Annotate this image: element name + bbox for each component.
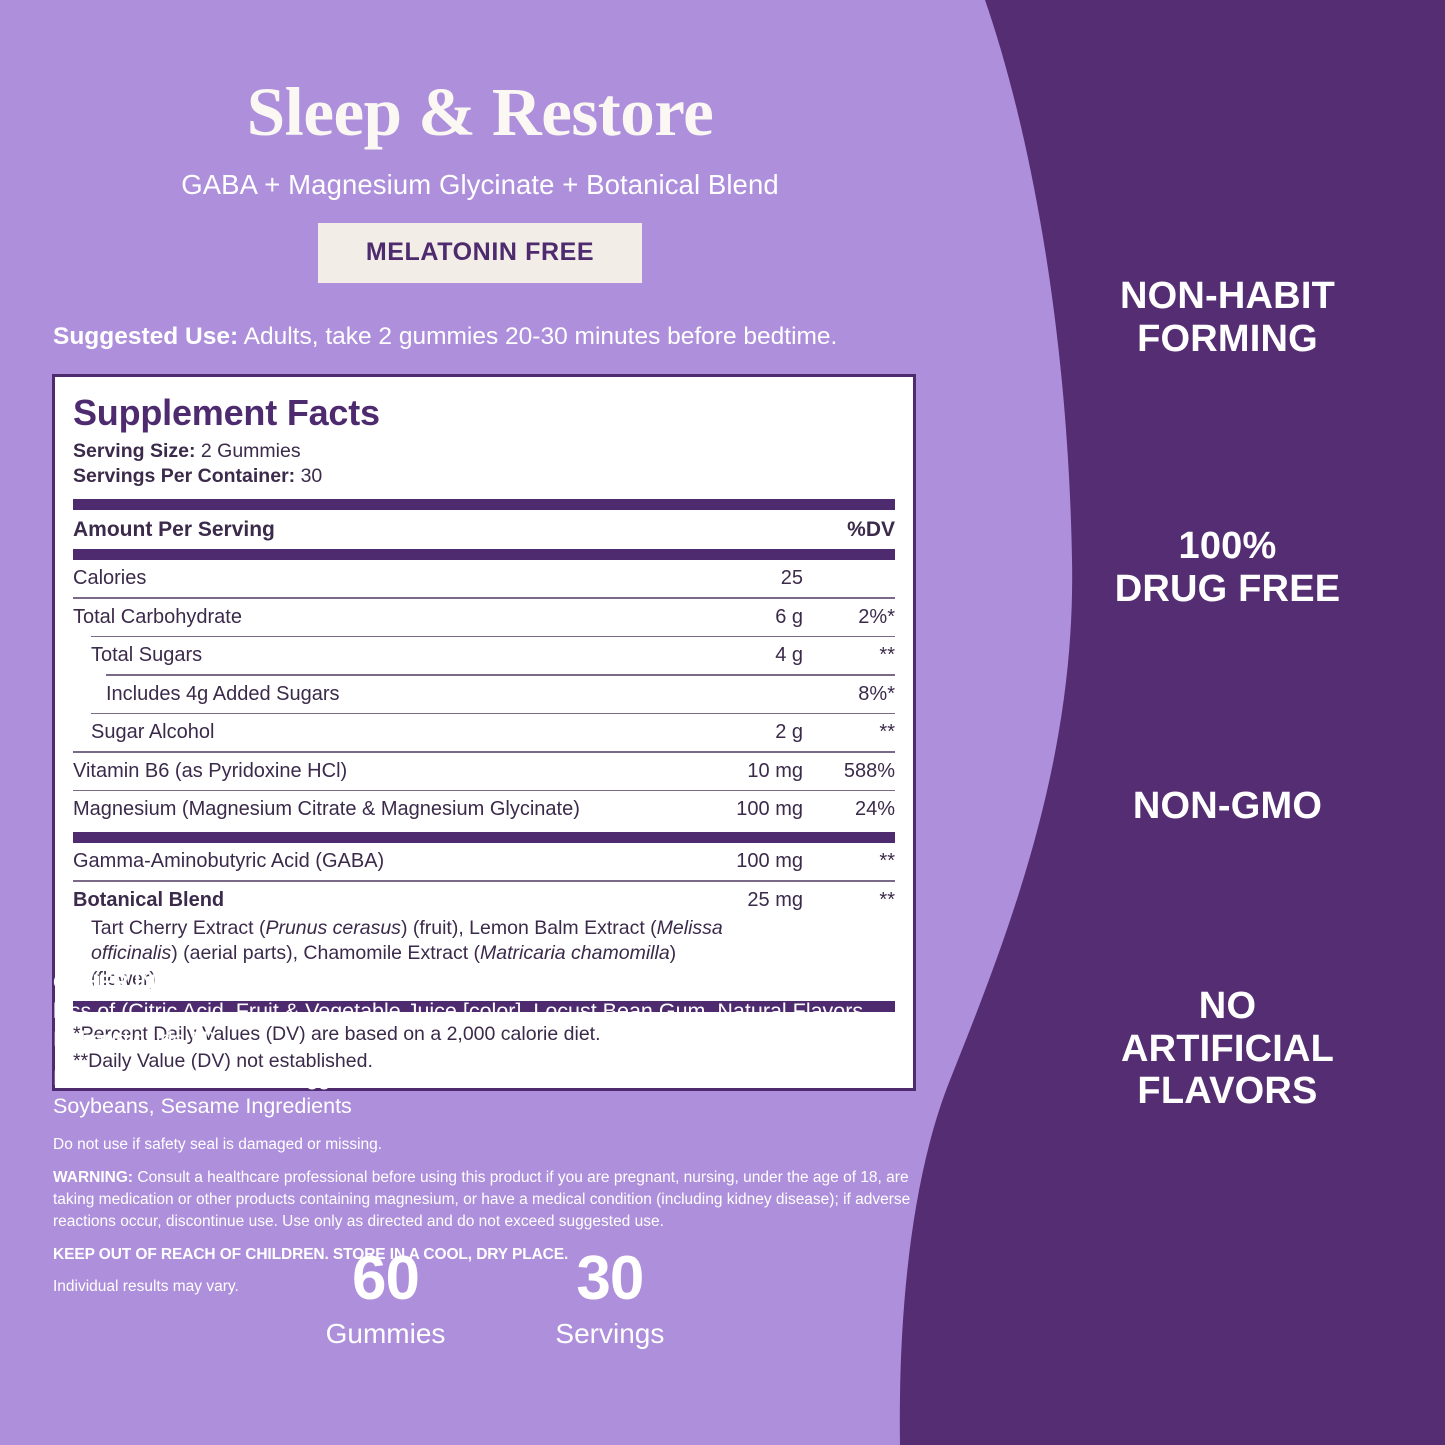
serving-size-line: Serving Size: 2 Gummies bbox=[73, 439, 895, 465]
row-name: Vitamin B6 (as Pyridoxine HCl) bbox=[73, 760, 653, 783]
gummies-count-block: 60 Gummies bbox=[326, 1248, 446, 1350]
table-row: Total Sugars 4 g ** bbox=[73, 637, 895, 674]
servings-per-container-label: Servings Per Container: bbox=[73, 465, 295, 487]
blend-text-1: Tart Cherry Extract ( bbox=[91, 917, 265, 939]
row-amount: 6 g bbox=[653, 606, 803, 629]
row-amount: 10 mg bbox=[653, 760, 803, 783]
servings-count-number: 30 bbox=[555, 1248, 664, 1310]
row-name: Magnesium (Magnesium Citrate & Magnesium… bbox=[73, 798, 653, 821]
row-name: Sugar Alcohol bbox=[91, 721, 653, 744]
other-ingredients-label: OTHER INGREDIENTS: bbox=[53, 970, 288, 994]
suggested-use-label: Suggested Use: bbox=[53, 323, 238, 350]
claim-line: FORMING bbox=[1010, 318, 1445, 361]
row-dv: ** bbox=[803, 721, 895, 744]
row-amount: 2 g bbox=[653, 721, 803, 744]
header-bar-top bbox=[73, 499, 895, 510]
table-row: Calories 25 bbox=[73, 560, 895, 597]
count-summary: 60 Gummies 30 Servings bbox=[195, 1248, 795, 1350]
row-name: Includes 4g Added Sugars bbox=[106, 683, 653, 706]
claims-panel: NON-HABIT FORMING 100% DRUG FREE NON-GMO… bbox=[1010, 0, 1445, 1445]
suggested-use: Suggested Use: Adults, take 2 gummies 20… bbox=[53, 323, 960, 351]
row-name: Gamma-Aminobutyric Acid (GABA) bbox=[73, 850, 653, 873]
blend-latin-1: Prunus cerasus bbox=[265, 917, 400, 939]
claim-line: DRUG FREE bbox=[1010, 568, 1445, 611]
row-dv: 8%* bbox=[803, 683, 895, 706]
suggested-use-text: Adults, take 2 gummies 20-30 minutes bef… bbox=[238, 323, 837, 350]
product-subtitle: GABA + Magnesium Glycinate + Botanical B… bbox=[0, 169, 960, 201]
dv-header: %DV bbox=[803, 518, 895, 542]
header-bar-bottom bbox=[73, 549, 895, 560]
claim-line: NO bbox=[1010, 985, 1445, 1028]
amount-per-serving-header: Amount Per Serving bbox=[73, 518, 653, 542]
servings-per-container-line: Servings Per Container: 30 bbox=[73, 464, 895, 490]
row-amount: 100 mg bbox=[653, 798, 803, 821]
warning-label: WARNING: bbox=[53, 1169, 133, 1186]
row-name: Calories bbox=[73, 567, 653, 590]
label-canvas: Sleep & Restore GABA + Magnesium Glycina… bbox=[0, 0, 1445, 1445]
fine-print-block: OTHER INGREDIENTS: Maltitol Syrup, Cane … bbox=[53, 968, 919, 1296]
row-dv: ** bbox=[803, 644, 895, 667]
servings-per-container-value: 30 bbox=[295, 465, 322, 487]
badge-row: MELATONIN FREE bbox=[0, 223, 960, 283]
row-amount: 100 mg bbox=[653, 850, 803, 873]
claim-non-habit-forming: NON-HABIT FORMING bbox=[1010, 275, 1445, 360]
claim-drug-free: 100% DRUG FREE bbox=[1010, 525, 1445, 610]
row-amount: 25 mg bbox=[653, 889, 803, 912]
hero-section: Sleep & Restore GABA + Magnesium Glycina… bbox=[0, 0, 960, 283]
table-row: Vitamin B6 (as Pyridoxine HCl) 10 mg 588… bbox=[73, 753, 895, 790]
melatonin-free-badge: MELATONIN FREE bbox=[318, 223, 642, 283]
claim-line: FLAVORS bbox=[1010, 1070, 1445, 1113]
claim-non-gmo: NON-GMO bbox=[1010, 785, 1445, 828]
servings-count-block: 30 Servings bbox=[555, 1248, 664, 1350]
formulated-without: Formulated without Milk, Egg, Fish, Crus… bbox=[53, 1064, 919, 1121]
row-dv: 588% bbox=[803, 760, 895, 783]
table-row: Gamma-Aminobutyric Acid (GABA) 100 mg ** bbox=[73, 843, 895, 880]
claim-line: 100% bbox=[1010, 525, 1445, 568]
claim-line: NON-HABIT bbox=[1010, 275, 1445, 318]
table-column-header: Amount Per Serving %DV bbox=[73, 510, 895, 549]
warning-block: WARNING: Consult a healthcare profession… bbox=[53, 1167, 919, 1233]
row-amount: 25 bbox=[653, 567, 803, 590]
row-amount: 4 g bbox=[653, 644, 803, 667]
warning-text: Consult a healthcare professional before… bbox=[53, 1169, 910, 1230]
row-name: Total Carbohydrate bbox=[73, 606, 653, 629]
claim-line: NON-GMO bbox=[1010, 785, 1445, 828]
gummies-count-number: 60 bbox=[326, 1248, 446, 1310]
table-row: Includes 4g Added Sugars 8%* bbox=[73, 676, 895, 713]
row-dv: ** bbox=[803, 889, 895, 912]
table-row: Sugar Alcohol 2 g ** bbox=[73, 714, 895, 751]
table-row: Total Carbohydrate 6 g 2%* bbox=[73, 599, 895, 636]
serving-size-label: Serving Size: bbox=[73, 440, 195, 462]
blend-text-2: ) (fruit), Lemon Balm Extract ( bbox=[401, 917, 657, 939]
gummies-count-label: Gummies bbox=[326, 1318, 446, 1350]
section-divider-bar bbox=[73, 832, 895, 843]
table-row: Botanical Blend 25 mg ** bbox=[73, 882, 895, 919]
row-dv: ** bbox=[803, 850, 895, 873]
blend-text-3: ) (aerial parts), Chamomile Extract ( bbox=[171, 942, 480, 964]
supplement-facts-title: Supplement Facts bbox=[73, 393, 895, 433]
row-name: Total Sugars bbox=[91, 644, 653, 667]
row-dv: 24% bbox=[803, 798, 895, 821]
claim-no-artificial-flavors: NO ARTIFICIAL FLAVORS bbox=[1010, 985, 1445, 1113]
servings-count-label: Servings bbox=[555, 1318, 664, 1350]
blend-latin-3: Matricaria chamomilla bbox=[480, 942, 670, 964]
row-dv: 2%* bbox=[803, 606, 895, 629]
product-title: Sleep & Restore bbox=[0, 78, 960, 147]
claim-line: ARTIFICIAL bbox=[1010, 1028, 1445, 1071]
row-name: Botanical Blend bbox=[73, 889, 653, 912]
serving-size-value: 2 Gummies bbox=[195, 440, 300, 462]
other-ingredients: OTHER INGREDIENTS: Maltitol Syrup, Cane … bbox=[53, 968, 919, 1054]
safety-seal-note: Do not use if safety seal is damaged or … bbox=[53, 1135, 919, 1155]
table-row: Magnesium (Magnesium Citrate & Magnesium… bbox=[73, 791, 895, 828]
